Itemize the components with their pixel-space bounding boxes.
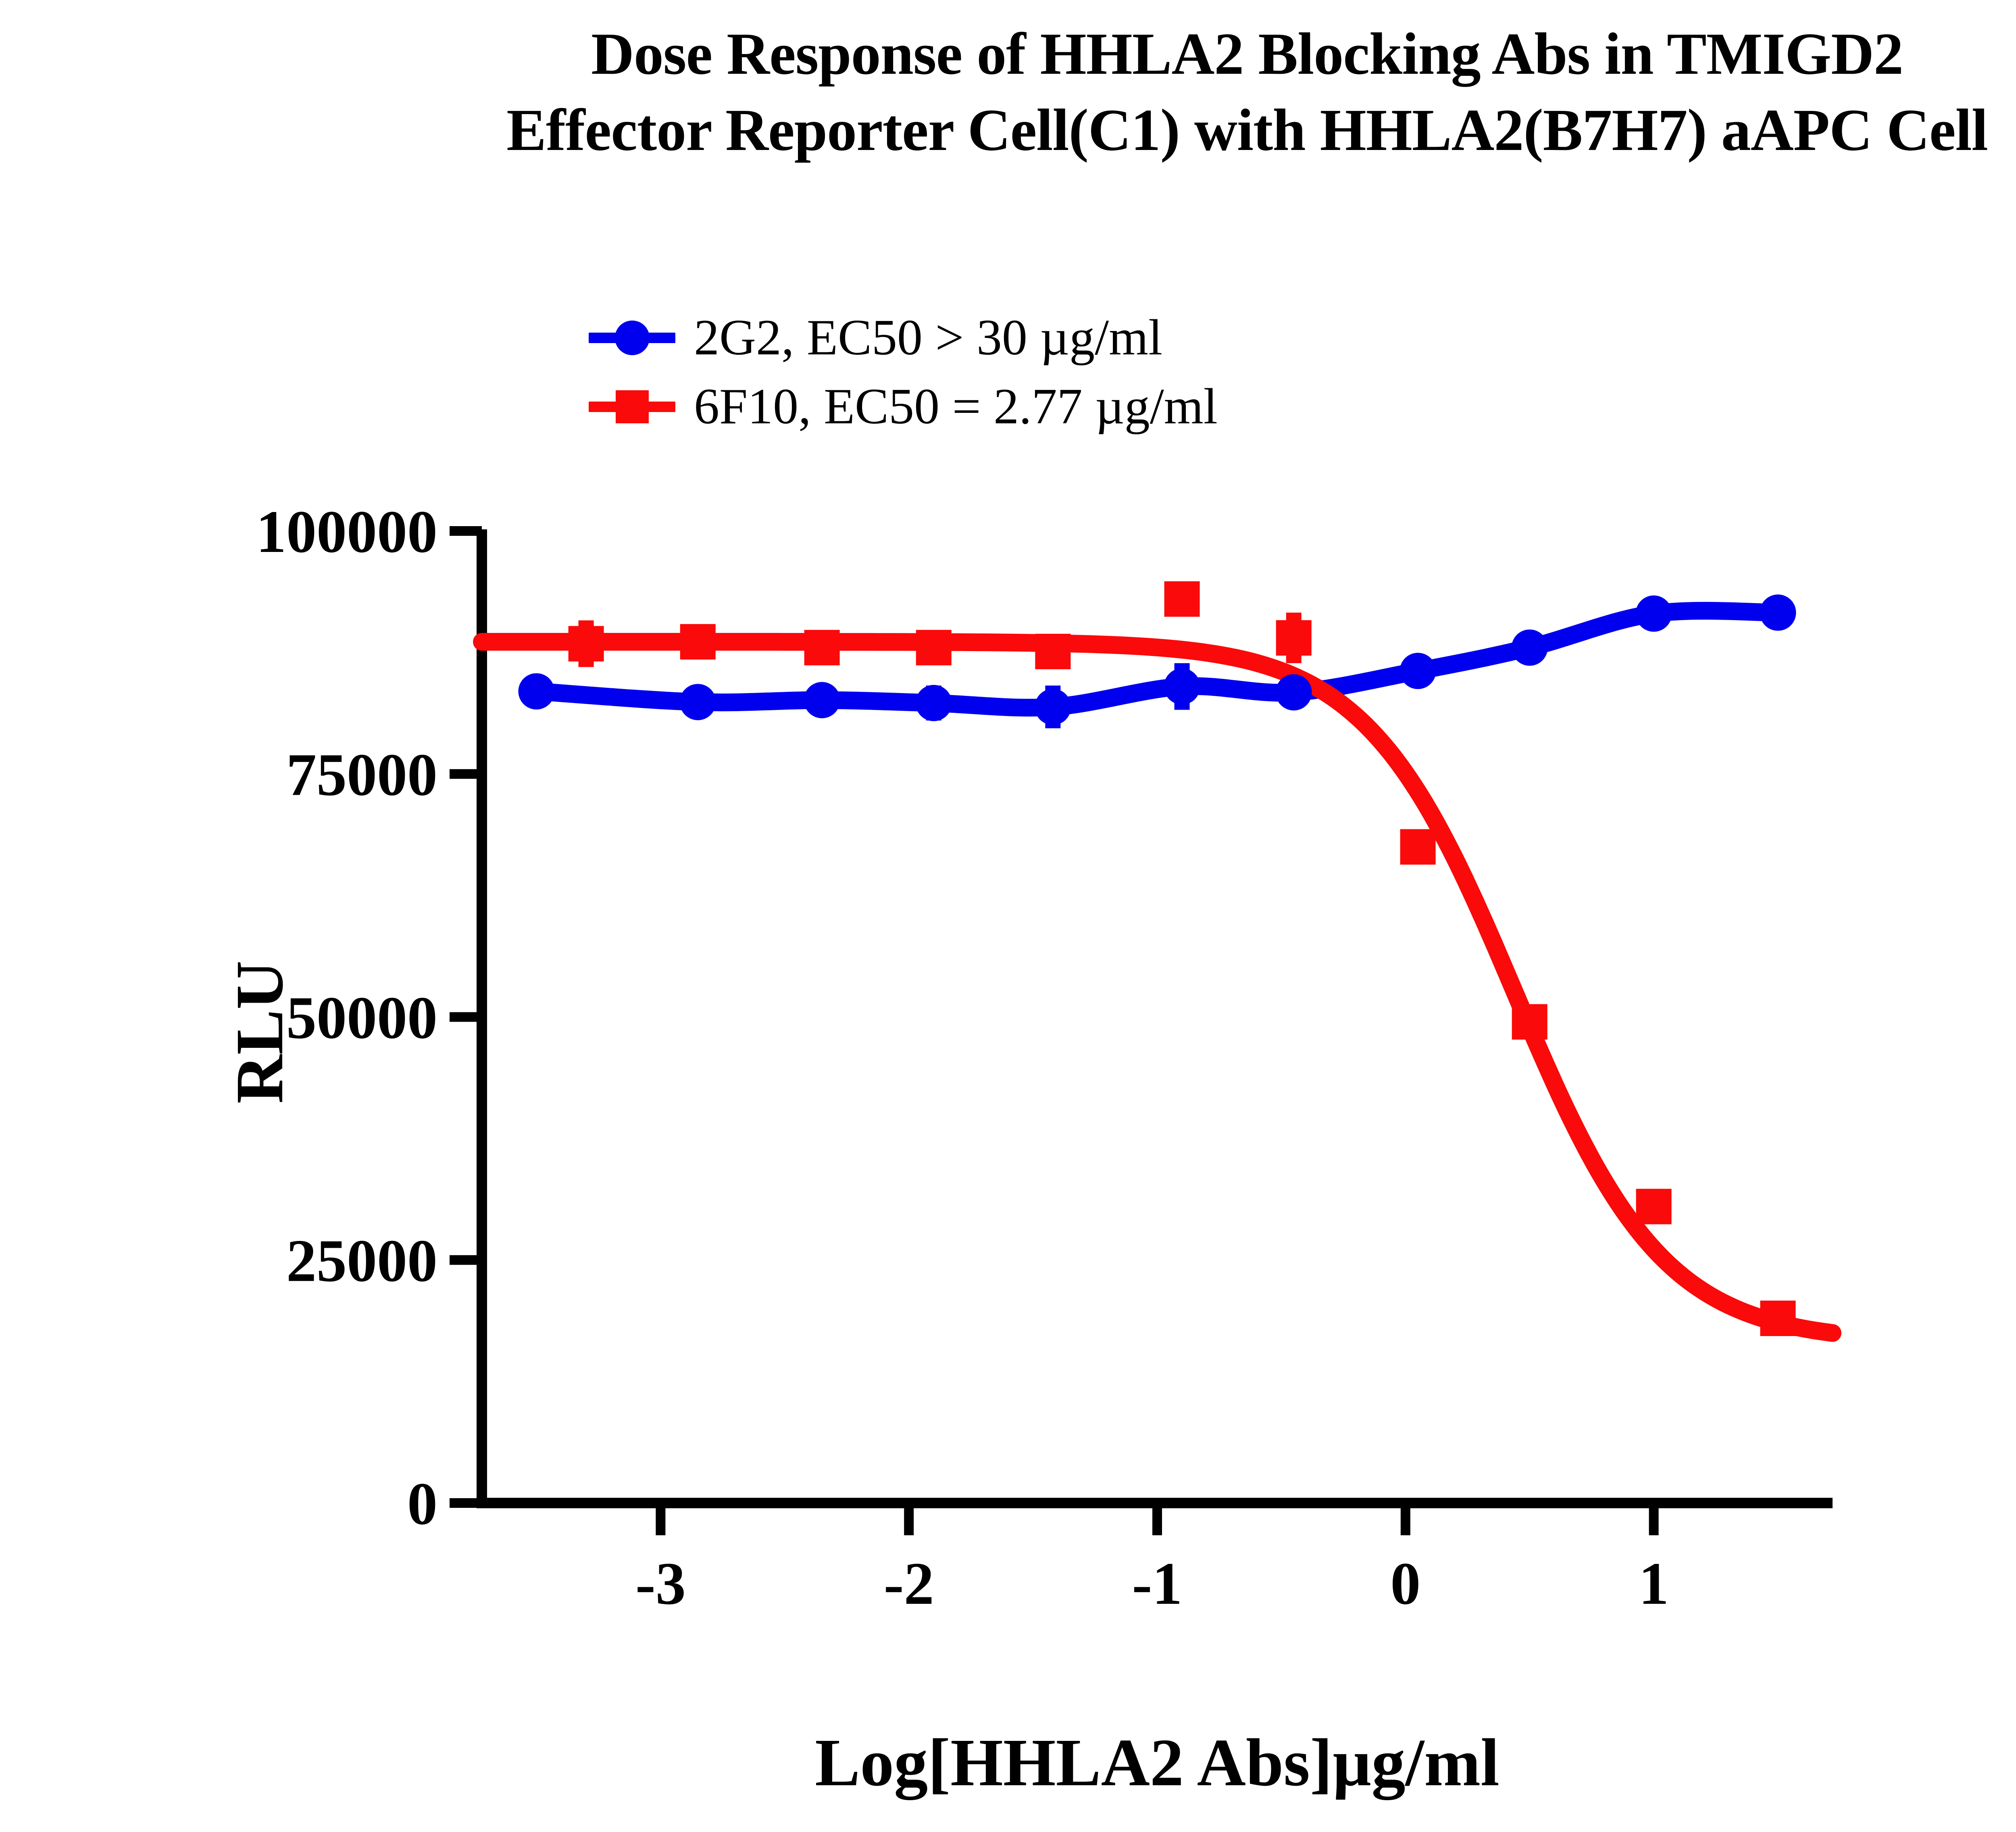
data-point-square[interactable]	[804, 630, 840, 665]
data-point-square[interactable]	[1035, 634, 1070, 669]
fit-curve-6f10	[482, 642, 1833, 1333]
x-axis-title: Log[HHLA2 Abs]µg/ml	[815, 1725, 1500, 1800]
data-point-square[interactable]	[1636, 1189, 1672, 1224]
x-tick-label-2: -1	[1132, 1550, 1183, 1617]
data-point-square[interactable]	[1164, 581, 1200, 617]
plot-area: 0250005000075000100000-3-2-101RLULog[HHL…	[0, 0, 2016, 1832]
y-axis-title: RLU	[222, 961, 297, 1104]
data-point-circle[interactable]	[1035, 689, 1071, 725]
markers-2g2	[518, 595, 1796, 725]
y-tick-label-25000: 25000	[286, 1227, 437, 1294]
x-tick-label-1: -2	[884, 1550, 934, 1617]
data-point-square[interactable]	[1512, 1004, 1547, 1040]
plot-svg: 0250005000075000100000-3-2-101RLULog[HHL…	[0, 0, 2016, 1832]
data-point-circle[interactable]	[1276, 674, 1312, 710]
data-point-square[interactable]	[916, 630, 952, 665]
x-tick-label-0: -3	[635, 1550, 686, 1617]
data-point-square[interactable]	[569, 626, 604, 662]
data-point-circle[interactable]	[1400, 653, 1436, 689]
data-point-circle[interactable]	[1760, 595, 1796, 631]
data-point-circle[interactable]	[680, 684, 716, 720]
y-tick-label-50000: 50000	[286, 985, 437, 1051]
data-point-square[interactable]	[1276, 620, 1312, 656]
data-point-circle[interactable]	[804, 682, 840, 718]
y-tick-label-75000: 75000	[286, 741, 437, 808]
data-point-circle[interactable]	[518, 673, 554, 710]
x-tick-label-4: 1	[1639, 1550, 1669, 1617]
y-tick-label-100000: 100000	[256, 498, 437, 565]
fit-curve-2g2	[537, 611, 1778, 708]
data-point-circle[interactable]	[916, 685, 952, 721]
figure-root: Dose Response of HHLA2 Blocking Abs in T…	[0, 0, 2016, 1832]
data-point-square[interactable]	[680, 624, 716, 660]
data-point-square[interactable]	[1400, 829, 1436, 865]
x-tick-label-3: 0	[1390, 1550, 1420, 1617]
data-point-circle[interactable]	[1164, 668, 1200, 705]
data-point-circle[interactable]	[1512, 629, 1548, 666]
data-point-circle[interactable]	[1636, 595, 1672, 632]
y-tick-label-0: 0	[407, 1470, 437, 1537]
data-point-square[interactable]	[1760, 1301, 1796, 1336]
